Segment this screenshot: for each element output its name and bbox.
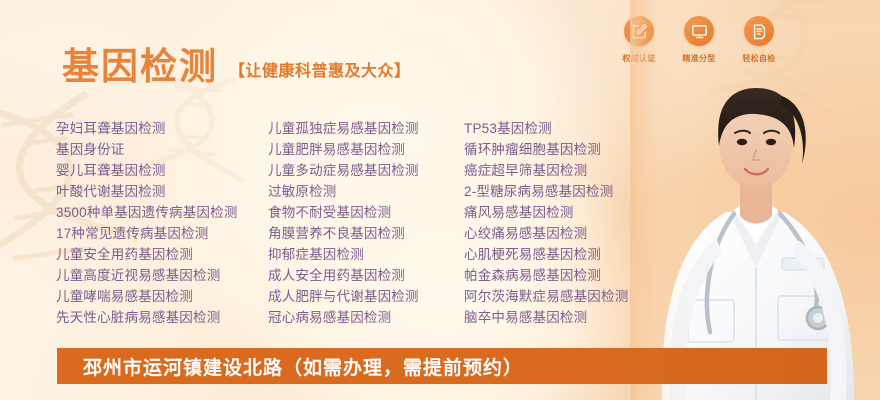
feature-badge-label: 精准分型 bbox=[682, 53, 715, 64]
list-item[interactable]: 痛风易感基因检测 bbox=[464, 202, 694, 223]
list-item[interactable]: 心肌梗死易感基因检测 bbox=[464, 244, 694, 265]
address-banner: 邳州市运河镇建设北路（如需办理，需提前预约） bbox=[57, 348, 827, 384]
edit-square-icon bbox=[624, 16, 654, 46]
list-item[interactable]: 抑郁症基因检测 bbox=[268, 244, 464, 265]
list-item[interactable]: 婴儿耳聋基因检测 bbox=[56, 160, 268, 181]
feature-badge-selftest[interactable]: 轻松自检 bbox=[740, 16, 778, 64]
list-item[interactable]: 3500种单基因遗传病基因检测 bbox=[56, 202, 268, 223]
feature-badge-label: 轻松自检 bbox=[742, 53, 775, 64]
list-item[interactable]: 先天性心脏病易感基因检测 bbox=[56, 307, 268, 328]
list-item[interactable]: 基因身份证 bbox=[56, 139, 268, 160]
page-subtitle: 【让健康科普惠及大众】 bbox=[229, 57, 411, 85]
list-item[interactable]: 儿童哮喘易感基因检测 bbox=[56, 286, 268, 307]
list-item[interactable]: 角膜营养不良基因检测 bbox=[268, 223, 464, 244]
service-list: 孕妇耳聋基因检测 基因身份证 婴儿耳聋基因检测 叶酸代谢基因检测 3500种单基… bbox=[56, 118, 694, 328]
list-item[interactable]: 儿童安全用药基因检测 bbox=[56, 244, 268, 265]
list-item[interactable]: 儿童多动症易感基因检测 bbox=[268, 160, 464, 181]
list-item[interactable]: TP53基因检测 bbox=[464, 118, 694, 139]
service-column-2: 儿童孤独症易感基因检测 儿童肥胖易感基因检测 儿童多动症易感基因检测 过敏原检测… bbox=[268, 118, 464, 328]
feature-badge-authority[interactable]: 权威认证 bbox=[620, 16, 658, 64]
list-item[interactable]: 17种常见遗传病基因检测 bbox=[56, 223, 268, 244]
page-title: 基因检测 bbox=[62, 48, 218, 85]
service-column-3: TP53基因检测 循环肿瘤细胞基因检测 癌症超早筛基因检测 2-型糖尿病易感基因… bbox=[464, 118, 694, 328]
list-item[interactable]: 成人肥胖与代谢基因检测 bbox=[268, 286, 464, 307]
list-item[interactable]: 冠心病易感基因检测 bbox=[268, 307, 464, 328]
list-item[interactable]: 癌症超早筛基因检测 bbox=[464, 160, 694, 181]
feature-badge-typing[interactable]: 精准分型 bbox=[680, 16, 718, 64]
list-item[interactable]: 脑卒中易感基因检测 bbox=[464, 307, 694, 328]
list-item[interactable]: 阿尔茨海默症易感基因检测 bbox=[464, 286, 694, 307]
list-item[interactable]: 食物不耐受基因检测 bbox=[268, 202, 464, 223]
monitor-icon bbox=[684, 16, 714, 46]
list-item[interactable]: 儿童孤独症易感基因检测 bbox=[268, 118, 464, 139]
list-item[interactable]: 叶酸代谢基因检测 bbox=[56, 181, 268, 202]
poster-root: 基因检测 【让健康科普惠及大众】 权威认证 精准分型 bbox=[0, 0, 880, 400]
feature-badge-list: 权威认证 精准分型 轻松自检 bbox=[620, 16, 778, 64]
list-item[interactable]: 儿童高度近视易感基因检测 bbox=[56, 265, 268, 286]
page-title-group: 基因检测 【让健康科普惠及大众】 bbox=[62, 48, 411, 85]
document-icon bbox=[744, 16, 774, 46]
address-banner-text: 邳州市运河镇建设北路（如需办理，需提前预约） bbox=[83, 353, 523, 380]
feature-badge-label: 权威认证 bbox=[622, 53, 655, 64]
list-item[interactable]: 2-型糖尿病易感基因检测 bbox=[464, 181, 694, 202]
list-item[interactable]: 成人安全用药基因检测 bbox=[268, 265, 464, 286]
list-item[interactable]: 孕妇耳聋基因检测 bbox=[56, 118, 268, 139]
list-item[interactable]: 过敏原检测 bbox=[268, 181, 464, 202]
list-item[interactable]: 帕金森病易感基因检测 bbox=[464, 265, 694, 286]
service-column-1: 孕妇耳聋基因检测 基因身份证 婴儿耳聋基因检测 叶酸代谢基因检测 3500种单基… bbox=[56, 118, 268, 328]
list-item[interactable]: 循环肿瘤细胞基因检测 bbox=[464, 139, 694, 160]
list-item[interactable]: 心绞痛易感基因检测 bbox=[464, 223, 694, 244]
list-item[interactable]: 儿童肥胖易感基因检测 bbox=[268, 139, 464, 160]
